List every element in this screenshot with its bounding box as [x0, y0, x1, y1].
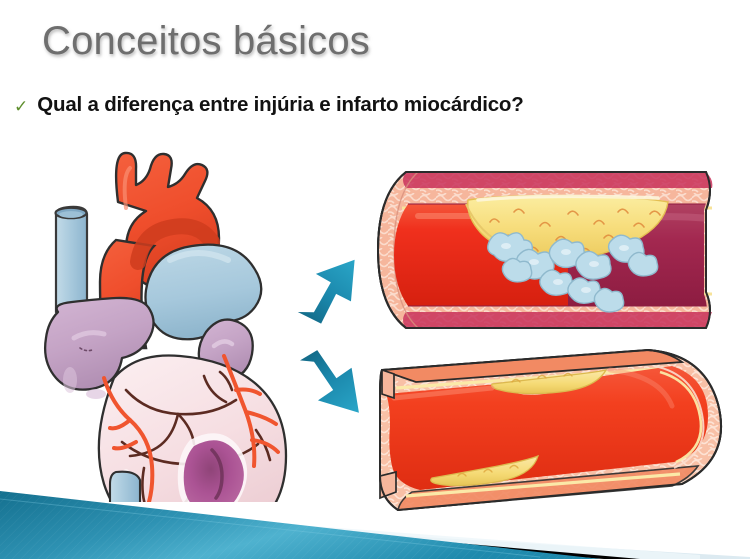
page-title: Conceitos básicos [42, 19, 370, 64]
occluded-artery-figure [372, 160, 744, 342]
arrow-to-narrowed-artery-icon [292, 348, 378, 424]
inferior-vena-cava [110, 472, 140, 502]
superior-vena-cava [56, 207, 88, 316]
check-icon: ✓ [14, 98, 28, 115]
arrow-to-blocked-artery-icon [292, 258, 378, 328]
narrowed-artery-figure [372, 348, 744, 516]
anatomical-heart-illustration [18, 142, 330, 502]
bullet-list-item: ✓ Qual a diferença entre injúria e infar… [14, 93, 524, 117]
bullet-item-label: Qual a diferença entre injúria e infarto… [37, 93, 523, 117]
presentation-slide: Conceitos básicos ✓ Qual a diferença ent… [0, 0, 750, 559]
